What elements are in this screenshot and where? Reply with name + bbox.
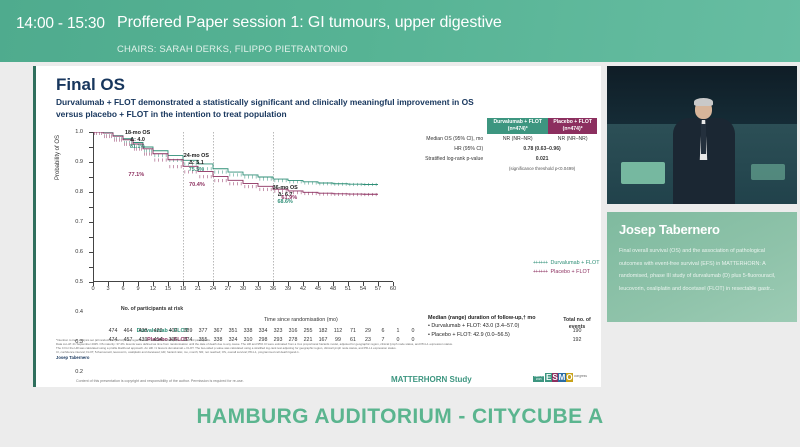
timepoint-annotation: 24-mo OSΔ: 5.175.5% (184, 153, 209, 175)
study-name: MATTERHORN Study (391, 375, 472, 384)
session-banner: 14:00 - 15:30 Proffered Paper session 1:… (0, 0, 800, 62)
legend-item-placebo: ++++++ Placebo + FLOT (533, 268, 600, 277)
annotation-timepoint: 24-mo OS (184, 153, 209, 160)
slide-copyright: Content of this presentation is copyrigh… (76, 379, 244, 383)
speaker-name: Josep Tabernero (619, 222, 720, 237)
annotation-placebo-value: 70.4% (189, 182, 205, 188)
annotation-placebo-value: 77.1% (128, 172, 144, 178)
stream-page: 14:00 - 15:30 Proffered Paper session 1:… (0, 0, 800, 447)
risk-cell: 403 (169, 328, 178, 334)
annotation-delta: Δ: 4.0 (125, 137, 150, 144)
legend-marker-durvalumab-icon: ++++++ (533, 259, 548, 268)
total-events-value: 190 (573, 328, 582, 334)
spacer-cell (409, 164, 487, 172)
x-tick-label: 27 (225, 286, 231, 292)
y-axis-label: Probability of OS (55, 135, 61, 180)
x-axis-label: Time since randomisation (mo) (264, 317, 338, 323)
row-label-median-os: Median OS (95% CI), mo (409, 134, 487, 144)
row-label-hr: HR (95% CI) (409, 144, 487, 154)
table-row: HR (95% CI) 0.78 (0.63–0.96) (409, 144, 597, 154)
speaker-tie (701, 124, 706, 154)
risk-table-caption: No. of participants at risk (116, 306, 188, 313)
hr-value: 0.78 (0.63–0.96) (487, 144, 597, 154)
plot-axes: 0.00.10.20.30.40.50.60.70.80.91.0 036912… (93, 132, 393, 282)
x-tick-label: 60 (390, 286, 396, 292)
session-chairs: CHAIRS: SARAH DERKS, FILIPPO PIETRANTONI… (117, 44, 348, 55)
x-tick-label: 9 (136, 286, 139, 292)
risk-cell: 474 (109, 328, 118, 334)
x-tick-label: 57 (375, 286, 381, 292)
y-tick-label: 0.2 (75, 369, 83, 375)
risk-cell: 6 (382, 328, 385, 334)
x-tick-label: 33 (255, 286, 261, 292)
x-tick-label: 12 (150, 286, 156, 292)
row-label-pvalue: Stratified log-rank p-value (409, 154, 487, 164)
x-tick-label: 24 (210, 286, 216, 292)
annotation-durvalumab-value: 75.5% (184, 167, 209, 174)
spacer-cell (409, 118, 487, 134)
risk-cell: 112 (334, 328, 342, 334)
p-value: 0.021 (487, 154, 597, 164)
legend-marker-placebo-icon: ++++++ (533, 268, 548, 277)
table-row: Median OS (95% CI), mo NR (NR–NR) NR (NR… (409, 134, 597, 144)
footnote-line: CI, confidence interval; FLOT, 5-fluorou… (56, 350, 596, 354)
x-tick-label: 42 (300, 286, 306, 292)
risk-cell: 255 (304, 328, 313, 334)
x-tick-label: 48 (330, 286, 336, 292)
annotation-delta: Δ: 5.1 (184, 160, 209, 167)
risk-cell: 323 (274, 328, 283, 334)
x-tick-label: 51 (345, 286, 351, 292)
risk-cell: 0 (412, 328, 415, 334)
risk-cell: 182 (319, 328, 328, 334)
talk-info-card[interactable]: Josep Tabernero Final overall survival (… (607, 212, 797, 322)
annotation-timepoint: 36-mo OS (273, 185, 298, 192)
session-time: 14:00 - 15:30 (16, 15, 105, 33)
session-title: Proffered Paper session 1: GI tumours, u… (117, 14, 502, 32)
y-tick-label: 1.0 (75, 129, 83, 135)
slide-title: Final OS (56, 75, 125, 95)
esmo-wordmark: E S M O (545, 373, 573, 382)
risk-cell: 1 (397, 328, 400, 334)
x-tick-label: 18 (180, 286, 186, 292)
results-table: Durvalumab + FLOT (n=474)* Placebo + FLO… (409, 118, 597, 172)
x-tick-label: 45 (315, 286, 321, 292)
risk-cell: 29 (365, 328, 371, 334)
risk-cell: 338 (244, 328, 253, 334)
x-tick-label: 3 (106, 286, 109, 292)
slide-presenter: Josep Tabernero (56, 356, 596, 360)
x-tick-label: 21 (195, 286, 201, 292)
x-tick-label: 39 (285, 286, 291, 292)
y-tick-label: 0.6 (75, 249, 83, 255)
survival-curves (93, 132, 393, 282)
room-label: HAMBURG AUDITORIUM - CITYCUBE A (196, 405, 603, 429)
legend-item-durvalumab: ++++++ Durvalumab + FLOT (533, 259, 600, 268)
esmo-logo: BERLIN 2025 E S M O congress (533, 373, 587, 382)
annotation-placebo-value: 61.9% (281, 195, 297, 201)
risk-cell: 334 (259, 328, 268, 334)
backdrop-logo-icon (621, 162, 665, 184)
x-tick-label: 15 (165, 286, 171, 292)
p-value-note: (significance threshold p<0.0499) (487, 164, 597, 172)
risk-cell: 71 (350, 328, 356, 334)
risk-cell: 377 (199, 328, 208, 334)
x-tick-label: 6 (121, 286, 124, 292)
room-bar: HAMBURG AUDITORIUM - CITYCUBE A (0, 387, 800, 447)
table-row: (significance threshold p<0.0499) (409, 164, 597, 172)
risk-cell: 351 (229, 328, 238, 334)
results-table-header-row: Durvalumab + FLOT (n=474)* Placebo + FLO… (409, 118, 597, 134)
esmo-congress-label: congress (574, 374, 587, 378)
annotation-timepoint: 18-mo OS (125, 130, 150, 137)
x-tick-label: 0 (91, 286, 94, 292)
y-tick-label: 0.8 (75, 189, 83, 195)
risk-cell: 464 (124, 328, 133, 334)
x-tick-label: 54 (360, 286, 366, 292)
risk-cell: 367 (214, 328, 223, 334)
x-tick-label: 36 (270, 286, 276, 292)
speaker-video[interactable] (607, 66, 797, 204)
followup-title: Median (range) duration of follow-up,† m… (428, 314, 536, 322)
median-os-durvalumab: NR (NR–NR) (487, 134, 548, 144)
timepoint-annotation: 18-mo OSΔ: 4.081.1% (125, 130, 150, 152)
risk-cell: 422 (154, 328, 163, 334)
risk-cell: 389 (184, 328, 193, 334)
presentation-slide: Final OS Durvalumab + FLOT demonstrated … (33, 66, 601, 388)
esmo-logo-square: BERLIN 2025 (533, 376, 544, 382)
median-os-placebo: NR (NR–NR) (548, 134, 597, 144)
talk-description: Final overall survival (OS) and the asso… (619, 245, 789, 295)
y-tick-label: 0.4 (75, 309, 83, 315)
legend-label-durvalumab: Durvalumab + FLOT (551, 259, 600, 268)
speaker-hair (694, 98, 713, 106)
slide-footnotes: *Intention to treat analysis set (all ra… (56, 338, 596, 360)
y-tick-label: 0.7 (75, 219, 83, 225)
annotation-durvalumab-value: 81.1% (125, 144, 150, 151)
table-row: Stratified log-rank p-value 0.021 (409, 154, 597, 164)
x-tick-label: 30 (240, 286, 246, 292)
y-tick-label: 0.9 (75, 159, 83, 165)
backdrop-logo-secondary-icon (751, 164, 785, 180)
slide-subtitle: Durvalumab + FLOT demonstrated a statist… (56, 97, 486, 120)
y-tick-label: 0.5 (75, 279, 83, 285)
risk-cell: 438 (139, 328, 148, 334)
chart-legend: ++++++ Durvalumab + FLOT ++++++ Placebo … (533, 259, 600, 277)
risk-cell: 316 (289, 328, 298, 334)
legend-label-placebo: Placebo + FLOT (551, 268, 590, 277)
col-header-durvalumab: Durvalumab + FLOT (n=474)* (487, 118, 548, 134)
km-plot: Probability of OS 0.00.10.20.30.40.50.60… (56, 128, 401, 304)
col-header-placebo: Placebo + FLOT (n=474)* (548, 118, 597, 134)
